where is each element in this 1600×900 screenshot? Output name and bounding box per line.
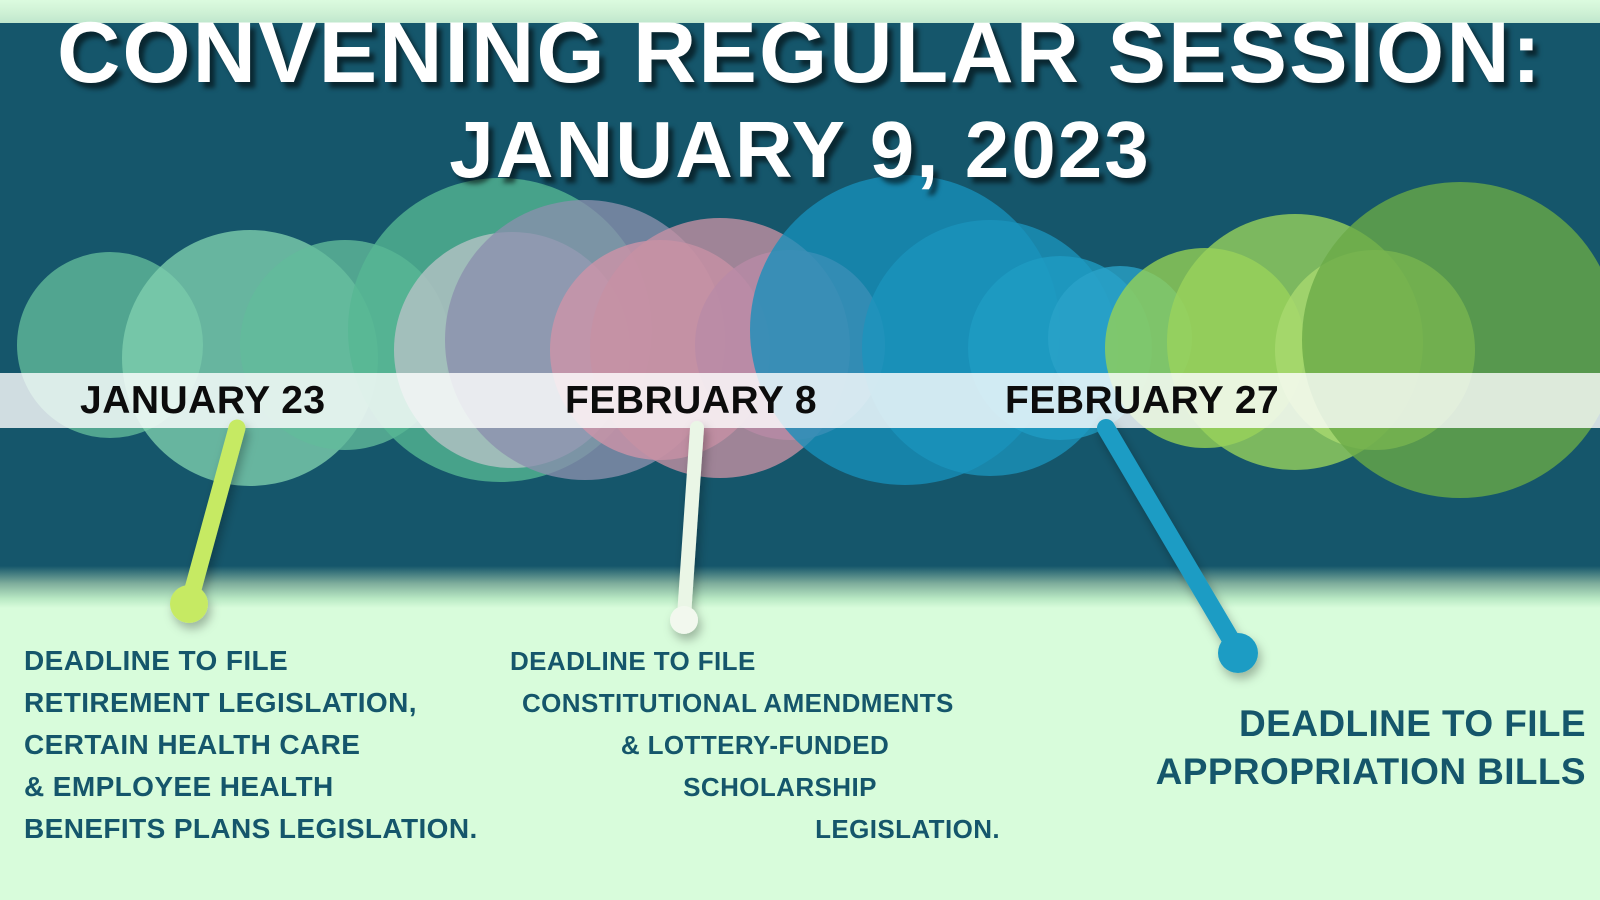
page-title: CONVENING REGULAR SESSION: JANUARY 9, 20…	[0, 10, 1600, 190]
note-line: APPROPRIATION BILLS	[1156, 748, 1586, 796]
note-line: & LOTTERY-FUNDED	[500, 724, 1010, 766]
note-line: & EMPLOYEE HEALTH	[24, 766, 478, 808]
note-february-27: DEADLINE TO FILE APPROPRIATION BILLS	[1156, 700, 1586, 796]
note-line: RETIREMENT LEGISLATION,	[24, 682, 478, 724]
note-line: LEGISLATION.	[500, 808, 1010, 850]
note-january-23: DEADLINE TO FILE RETIREMENT LEGISLATION,…	[24, 640, 478, 850]
title-line-secondary: JANUARY 9, 2023	[0, 110, 1600, 190]
milestone-date-february-8: FEBRUARY 8	[565, 373, 817, 428]
milestone-date-february-27: FEBRUARY 27	[1005, 373, 1279, 428]
milestone-date-january-23: JANUARY 23	[80, 373, 326, 428]
note-line: DEADLINE TO FILE	[24, 640, 478, 682]
note-line: DEADLINE TO FILE	[1156, 700, 1586, 748]
note-line: CONSTITUTIONAL AMENDMENTS	[500, 682, 1010, 724]
note-line: BENEFITS PLANS LEGISLATION.	[24, 808, 478, 850]
hero-bottom-fade	[0, 566, 1600, 608]
note-line: DEADLINE TO FILE	[500, 640, 1010, 682]
title-line-primary: CONVENING REGULAR SESSION:	[0, 10, 1600, 96]
note-february-8: DEADLINE TO FILE CONSTITUTIONAL AMENDMEN…	[500, 640, 1010, 850]
note-line: SCHOLARSHIP	[500, 766, 1010, 808]
decorative-circle	[1302, 182, 1600, 498]
note-line: CERTAIN HEALTH CARE	[24, 724, 478, 766]
infographic-canvas: JANUARY 23 FEBRUARY 8 FEBRUARY 27 CONVEN…	[0, 0, 1600, 900]
